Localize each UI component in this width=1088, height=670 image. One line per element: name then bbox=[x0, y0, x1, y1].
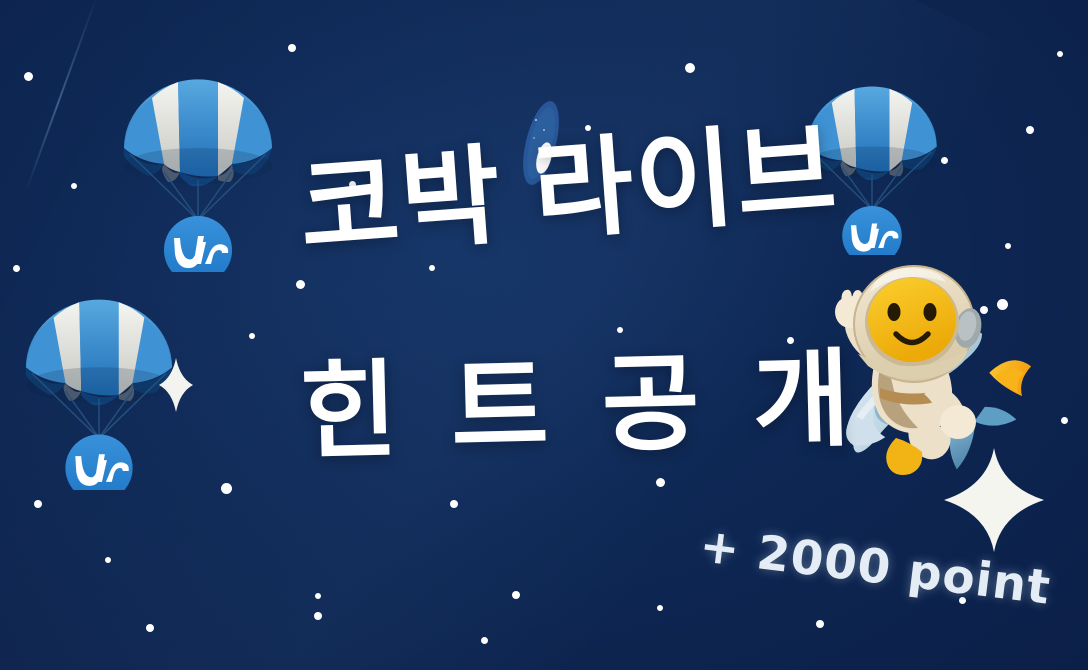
star bbox=[1057, 51, 1063, 57]
star bbox=[296, 280, 305, 289]
star bbox=[585, 125, 591, 131]
star bbox=[315, 593, 321, 599]
promo-banner: 코박 라이브 힌 트 공 개 + 2000 point bbox=[0, 0, 1088, 670]
star bbox=[105, 557, 111, 563]
star bbox=[1026, 126, 1034, 134]
star bbox=[685, 63, 695, 73]
star bbox=[450, 500, 458, 508]
star bbox=[816, 620, 824, 628]
star bbox=[249, 333, 255, 339]
astronaut-on-rocket bbox=[818, 262, 1068, 517]
star bbox=[1005, 243, 1011, 249]
comet-shooting-star bbox=[506, 98, 576, 193]
star bbox=[349, 181, 356, 188]
star bbox=[24, 72, 33, 81]
star bbox=[512, 591, 520, 599]
parachute-top-right bbox=[802, 80, 942, 260]
star bbox=[787, 337, 794, 344]
star bbox=[617, 327, 623, 333]
reward-point-text: + 2000 point bbox=[697, 518, 1054, 616]
star bbox=[288, 44, 296, 52]
star bbox=[657, 605, 663, 611]
star bbox=[13, 265, 20, 272]
headline-line-2: 힌 트 공 개 bbox=[299, 342, 864, 470]
star bbox=[481, 637, 488, 644]
star bbox=[314, 612, 322, 620]
parachute-mid-left bbox=[20, 292, 178, 495]
star bbox=[429, 265, 435, 271]
star bbox=[34, 500, 42, 508]
star bbox=[221, 483, 232, 494]
background-light-streak bbox=[24, 0, 98, 194]
parachute-top-left bbox=[118, 72, 278, 277]
star bbox=[146, 624, 154, 632]
star bbox=[656, 478, 665, 487]
headline-line-1: 코박 라이브 bbox=[296, 113, 842, 269]
star bbox=[71, 183, 77, 189]
